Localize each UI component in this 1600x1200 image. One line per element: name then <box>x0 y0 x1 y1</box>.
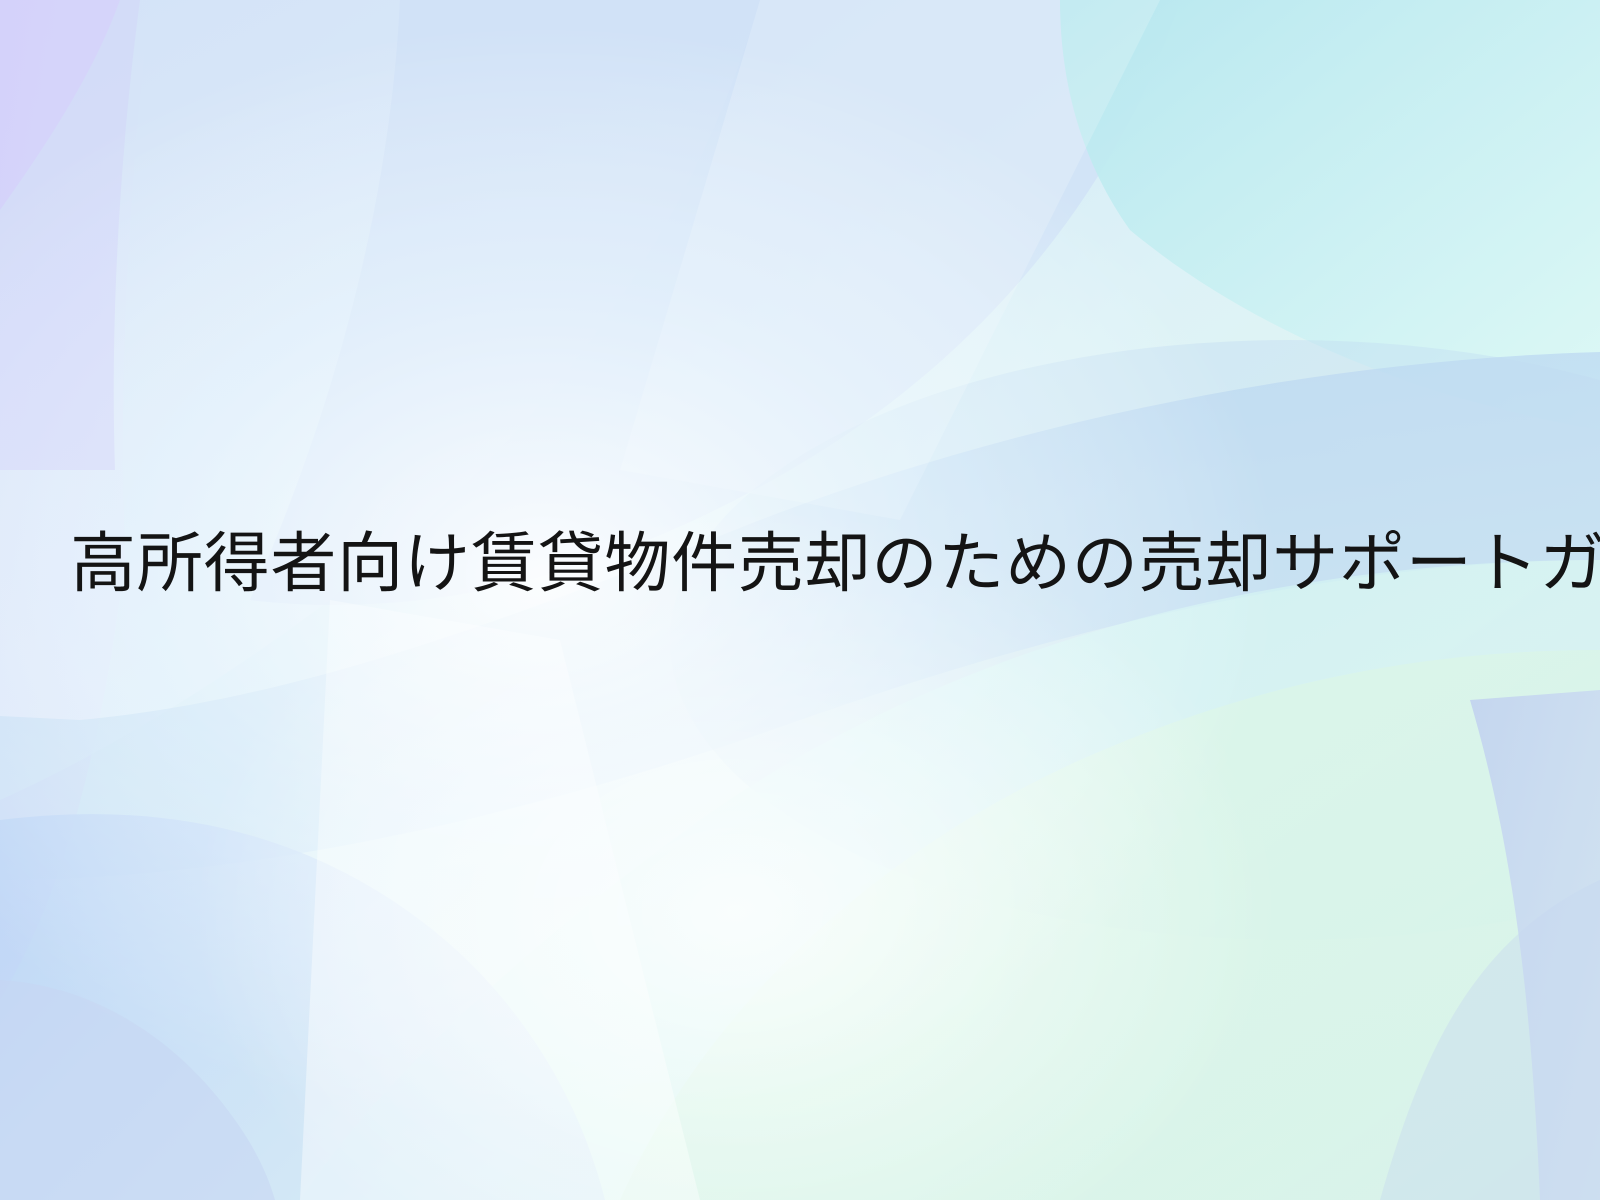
page-title: 高所得者向け賃貸物件売却のための売却サポートガイド <box>70 525 1530 603</box>
title-block: 高所得者向け賃貸物件売却のための売却サポートガイド <box>0 0 1600 1200</box>
title-slide: 高所得者向け賃貸物件売却のための売却サポートガイド <box>0 0 1600 1200</box>
